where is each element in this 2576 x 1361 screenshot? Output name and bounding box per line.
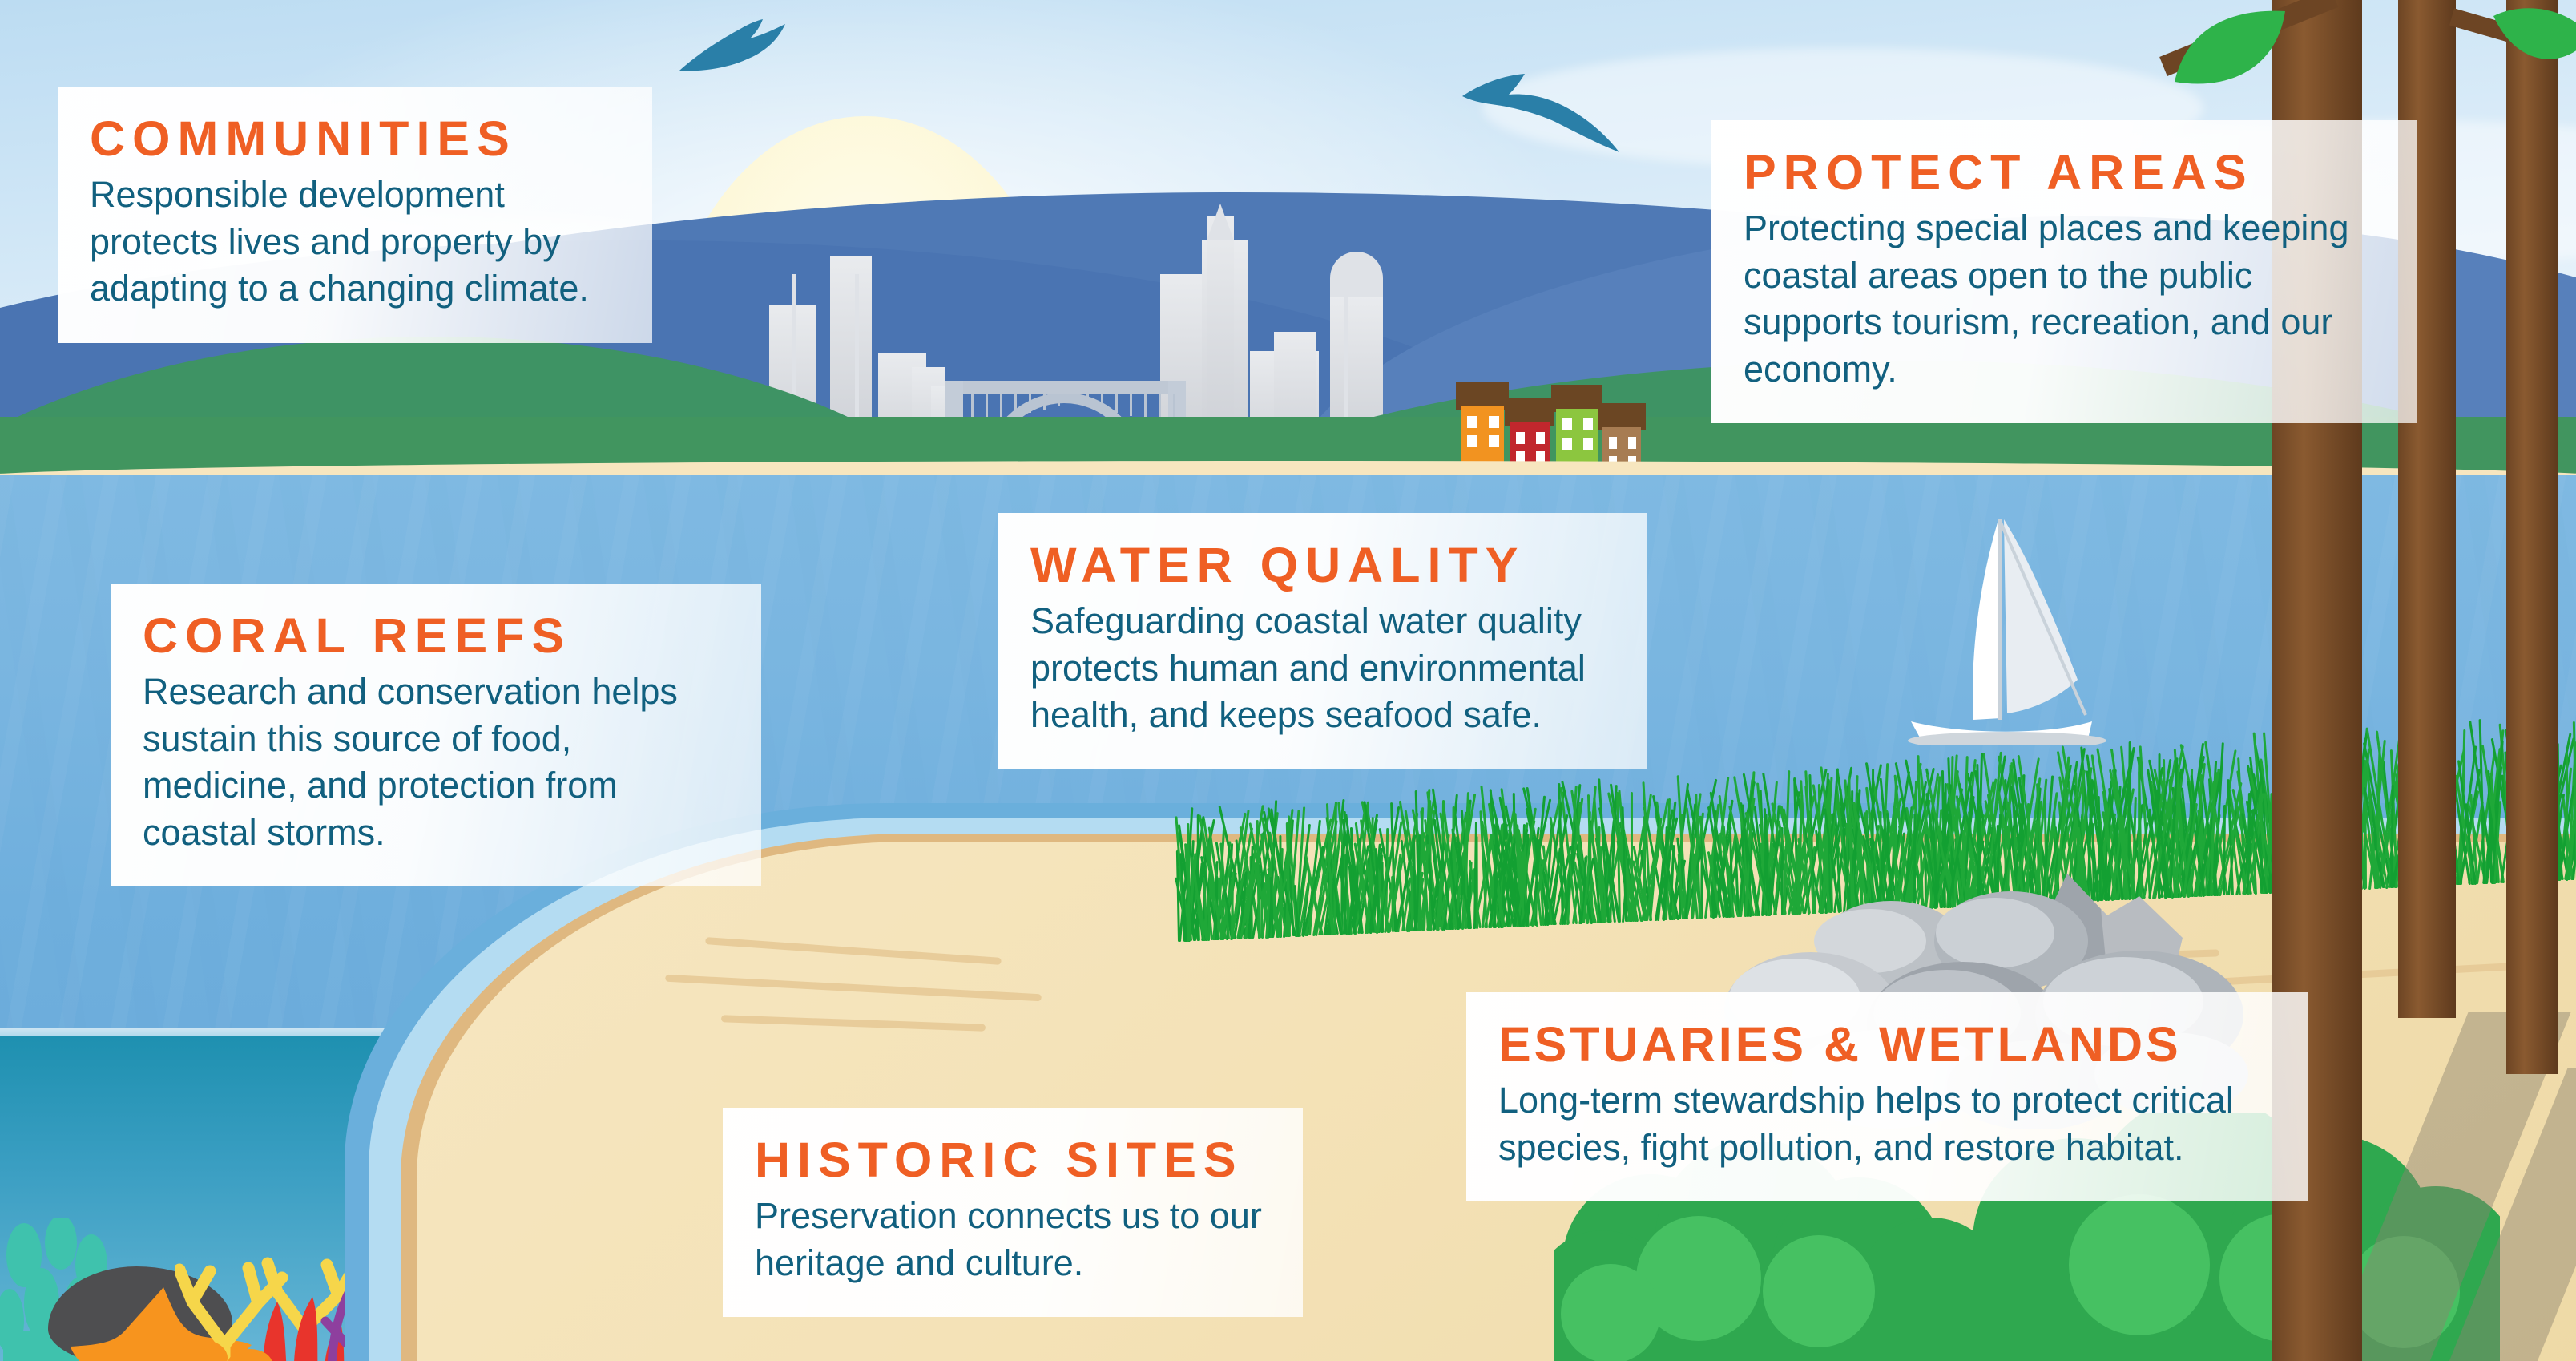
card-estuaries-wetlands[interactable]: ESTUARIES & WETLANDS Long-term stewardsh… <box>1466 992 2308 1201</box>
house-window <box>1467 416 1477 428</box>
card-body: Protecting special places and keeping co… <box>1744 205 2385 393</box>
row-house <box>1510 398 1550 466</box>
house-window <box>1562 438 1572 450</box>
row-house <box>1556 385 1598 466</box>
card-heading: ESTUARIES & WETLANDS <box>1498 1020 2276 1069</box>
house-roof <box>1505 398 1554 426</box>
card-historic-sites[interactable]: HISTORIC SITES Preservation connects us … <box>723 1108 1303 1317</box>
city-tower-spire <box>1207 204 1234 240</box>
card-coral-reefs[interactable]: CORAL REEFS Research and conservation he… <box>111 584 761 886</box>
grass-blade <box>2566 753 2568 881</box>
card-communities[interactable]: COMMUNITIES Responsible development prot… <box>58 87 652 343</box>
house-window <box>1516 432 1525 444</box>
card-body: Research and conservation helps sustain … <box>143 668 729 856</box>
house-window <box>1489 416 1499 428</box>
bridge-cable <box>1058 394 1060 406</box>
card-heading: COMMUNITIES <box>90 114 620 164</box>
card-body: Preservation connects us to our heritage… <box>755 1193 1271 1286</box>
bridge-cable <box>1115 394 1118 413</box>
house-window <box>1536 432 1545 444</box>
row-house <box>1602 403 1641 467</box>
card-heading: HISTORIC SITES <box>755 1135 1271 1185</box>
sailboat-icon <box>1887 481 2143 745</box>
grass-blade <box>1643 816 1646 921</box>
card-body: Safeguarding coastal water quality prote… <box>1030 598 1615 739</box>
card-protect-areas[interactable]: PROTECT AREAS Protecting special places … <box>1711 120 2417 423</box>
card-body: Responsible development protects lives a… <box>90 172 620 313</box>
card-heading: WATER QUALITY <box>1030 540 1615 590</box>
city-tower-dome <box>1330 252 1383 297</box>
bridge-cable <box>1014 394 1017 416</box>
bridge-cable <box>1086 394 1089 406</box>
leaf-icon <box>2490 2 2576 82</box>
seagull-icon <box>673 8 833 96</box>
house-window <box>1562 418 1572 430</box>
leaf-icon <box>2170 5 2290 93</box>
bridge-cable <box>1000 394 1002 419</box>
house-window <box>1489 435 1499 447</box>
house-window <box>1583 418 1593 430</box>
house-roof <box>1456 382 1509 410</box>
house-window <box>1609 437 1617 449</box>
seagull-icon <box>1454 55 1647 167</box>
card-heading: PROTECT AREAS <box>1744 147 2385 197</box>
bridge-cable <box>1072 394 1074 403</box>
house-window <box>1467 435 1477 447</box>
card-water-quality[interactable]: WATER QUALITY Safeguarding coastal water… <box>998 513 1647 769</box>
bridge-cable <box>1130 394 1132 416</box>
orange-coral <box>136 1331 280 1361</box>
house-roof <box>1551 385 1602 412</box>
row-house <box>1461 382 1504 466</box>
card-body: Long-term stewardship helps to protect c… <box>1498 1077 2276 1171</box>
card-heading: CORAL REEFS <box>143 611 729 660</box>
bridge-cable <box>1144 394 1147 419</box>
infographic-canvas: COMMUNITIES Responsible development prot… <box>0 0 2576 1361</box>
tree-trunk <box>2506 0 2558 1074</box>
bridge-cable <box>1043 394 1046 410</box>
house-window <box>1628 437 1636 449</box>
bridge-cable <box>1101 394 1103 410</box>
house-roof <box>1598 403 1646 430</box>
house-window <box>1583 438 1593 450</box>
bridge-cable <box>1029 394 1031 413</box>
